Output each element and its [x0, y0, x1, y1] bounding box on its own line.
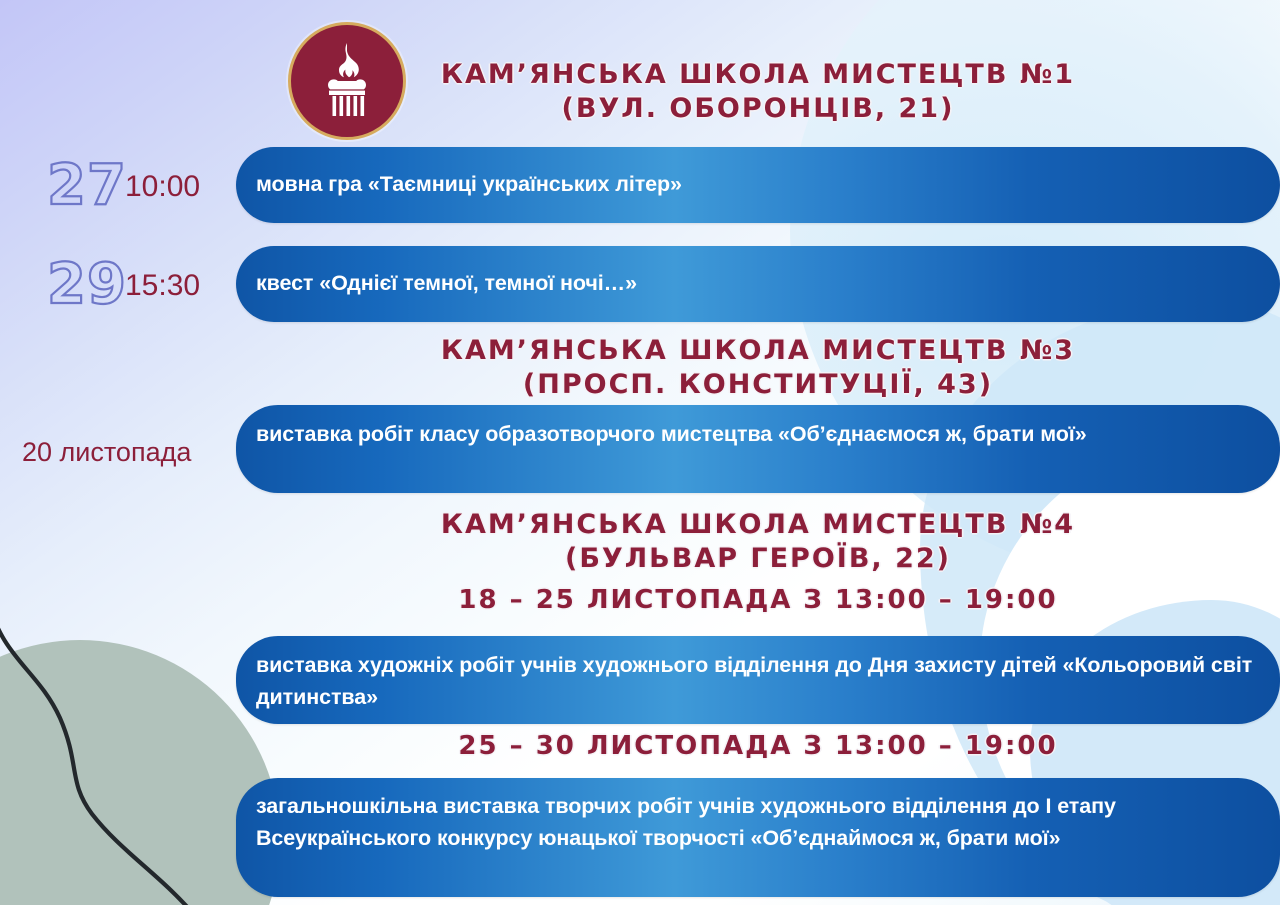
event-pill-4[interactable]: виставка художніх робіт учнів художнього…: [236, 636, 1280, 724]
poster-canvas: КАМ’ЯНСЬКА ШКОЛА МИСТЕЦТВ №1 (ВУЛ. ОБОРО…: [0, 0, 1280, 905]
event-pill-2[interactable]: квест «Однієї темної, темної ночі…»: [236, 246, 1280, 322]
event-time-2: 15:30: [125, 269, 200, 303]
venue-heading-2-line2: (ПРОСП. КОНСТИТУЦІЇ, 43): [236, 368, 1280, 402]
event-day-2: 29: [47, 257, 127, 313]
venue-heading-3-line2: (БУЛЬВАР ГЕРОЇВ, 22): [236, 542, 1280, 576]
event-date-3: 20 листопада: [22, 437, 191, 468]
event-pill-3[interactable]: виставка робіт класу образотворчого мист…: [236, 405, 1280, 493]
venue-heading-2: КАМ’ЯНСЬКА ШКОЛА МИСТЕЦТВ №3 (ПРОСП. КОН…: [236, 334, 1280, 402]
date-range-1: 18 – 25 ЛИСТОПАДА З 13:00 – 19:00: [236, 585, 1280, 615]
event-time-1: 10:00: [125, 170, 200, 204]
venue-heading-1-line2: (ВУЛ. ОБОРОНЦІВ, 21): [236, 92, 1280, 126]
venue-heading-2-line1: КАМ’ЯНСЬКА ШКОЛА МИСТЕЦТВ №3: [441, 335, 1075, 366]
event-title-5: загальношкільна виставка творчих робіт у…: [256, 790, 1254, 854]
event-title-3: виставка робіт класу образотворчого мист…: [256, 418, 1087, 450]
venue-heading-3: КАМ’ЯНСЬКА ШКОЛА МИСТЕЦТВ №4 (БУЛЬВАР ГЕ…: [236, 508, 1280, 576]
venue-heading-3-line1: КАМ’ЯНСЬКА ШКОЛА МИСТЕЦТВ №4: [441, 509, 1075, 540]
date-range-2: 25 – 30 ЛИСТОПАДА З 13:00 – 19:00: [236, 731, 1280, 761]
event-title-2: квест «Однієї темної, темної ночі…»: [256, 267, 637, 299]
event-title-1: мовна гра «Таємниці українських літер»: [256, 168, 682, 200]
event-day-1: 27: [47, 158, 127, 214]
event-title-4: виставка художніх робіт учнів художнього…: [256, 649, 1254, 713]
event-pill-1[interactable]: мовна гра «Таємниці українських літер»: [236, 147, 1280, 223]
venue-heading-1: КАМ’ЯНСЬКА ШКОЛА МИСТЕЦТВ №1 (ВУЛ. ОБОРО…: [236, 58, 1280, 126]
venue-heading-1-line1: КАМ’ЯНСЬКА ШКОЛА МИСТЕЦТВ №1: [441, 59, 1075, 90]
event-pill-5[interactable]: загальношкільна виставка творчих робіт у…: [236, 778, 1280, 897]
